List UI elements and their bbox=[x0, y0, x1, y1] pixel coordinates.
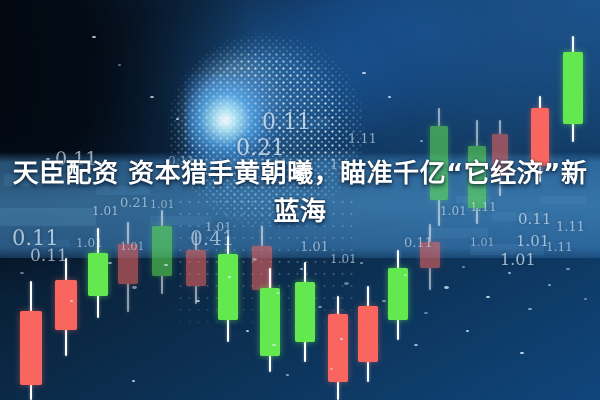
sparkle-particle bbox=[382, 300, 386, 302]
sparkle-particle bbox=[132, 380, 135, 382]
sparkle-particle bbox=[404, 274, 407, 276]
candlestick-body bbox=[20, 311, 42, 385]
sparkle-particle bbox=[118, 64, 121, 66]
sparkle-particle bbox=[528, 308, 532, 310]
headline-line-1: 天臣配资 资本猎手黄朝曦，瞄准千亿“它经济”新 bbox=[13, 159, 588, 189]
candlestick bbox=[20, 281, 42, 400]
sparkle-particle bbox=[362, 72, 366, 74]
sparkle-particle bbox=[164, 264, 168, 266]
sparkle-particle bbox=[360, 262, 363, 264]
sparkle-particle bbox=[508, 272, 511, 274]
candlestick-wick bbox=[572, 36, 574, 142]
sparkle-particle bbox=[70, 300, 73, 302]
candlestick bbox=[358, 286, 378, 382]
candlestick bbox=[55, 258, 77, 356]
candlestick-wick bbox=[30, 281, 32, 400]
candlestick bbox=[563, 36, 583, 142]
sparkle-particle bbox=[414, 344, 418, 346]
candlestick-body bbox=[55, 280, 77, 330]
sparkle-particle bbox=[424, 312, 428, 314]
banner-headline: 天臣配资 资本猎手黄朝曦，瞄准千亿“它经济”新 蓝海 bbox=[0, 155, 600, 231]
sparkle-particle bbox=[548, 284, 551, 286]
sparkle-particle bbox=[566, 268, 570, 270]
candlestick-wick bbox=[367, 286, 369, 382]
sparkle-particle bbox=[462, 266, 465, 268]
candlestick bbox=[388, 250, 408, 340]
sparkle-particle bbox=[584, 298, 587, 300]
sparkle-particle bbox=[132, 286, 137, 289]
candlestick-body bbox=[563, 52, 583, 124]
sparkle-particle bbox=[520, 352, 524, 354]
sparkle-particle bbox=[466, 330, 469, 332]
banner-image: 0.110.110.111.011.011.011.010.211.010.11… bbox=[0, 0, 600, 400]
sparkle-particle bbox=[286, 374, 289, 376]
sparkle-particle bbox=[108, 262, 112, 264]
sparkle-particle bbox=[150, 96, 154, 98]
candlestick-body bbox=[88, 253, 108, 296]
sparkle-particle bbox=[420, 140, 423, 142]
sparkle-particle bbox=[444, 286, 449, 289]
sparkle-particle bbox=[388, 96, 391, 98]
sparkle-particle bbox=[330, 368, 333, 370]
candlestick-wick bbox=[65, 258, 67, 356]
sparkle-particle bbox=[20, 272, 24, 274]
candlestick-body bbox=[358, 306, 378, 362]
candlestick-body bbox=[388, 268, 408, 320]
sparkle-particle bbox=[92, 36, 96, 38]
candlestick-wick bbox=[397, 250, 399, 340]
sparkle-particle bbox=[486, 296, 490, 298]
headline-line-2: 蓝海 bbox=[10, 193, 590, 231]
